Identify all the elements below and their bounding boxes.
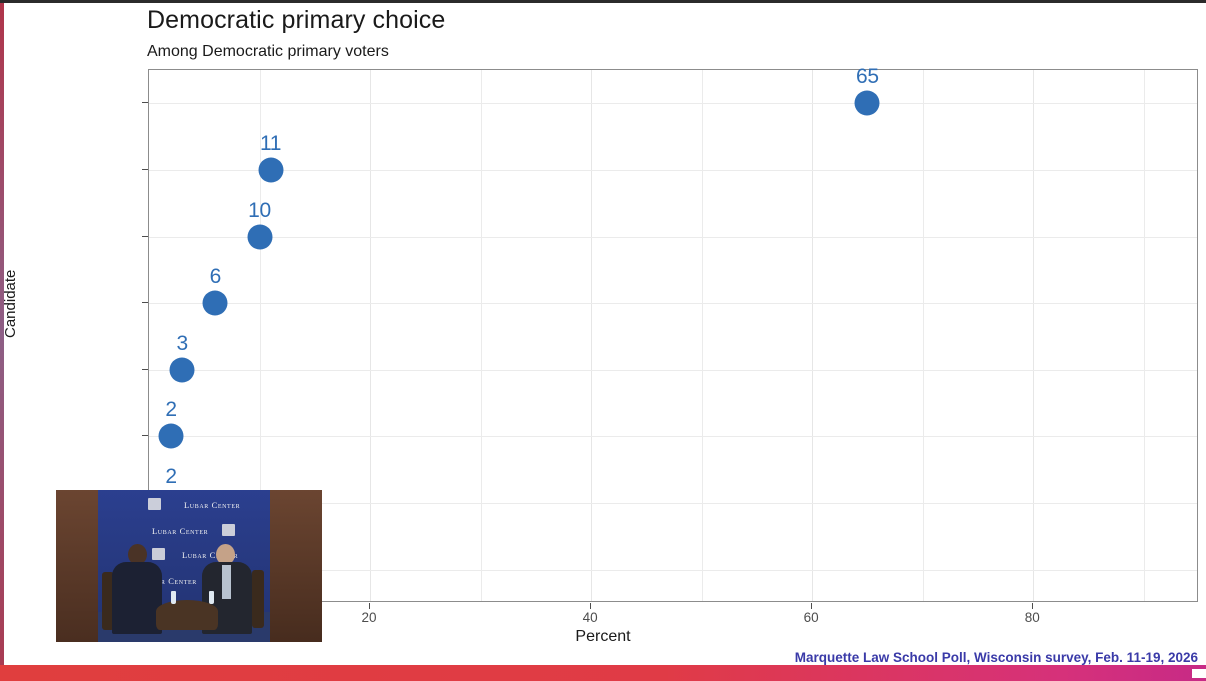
gridline-horizontal <box>149 103 1197 104</box>
video-bottle-right <box>209 591 214 604</box>
data-point-label: 2 <box>165 465 176 489</box>
x-tick-mark <box>811 603 812 609</box>
x-tick-mark <box>369 603 370 609</box>
marquette-logo-icon <box>152 548 165 560</box>
data-point[interactable] <box>247 224 272 249</box>
gridline-horizontal <box>149 303 1197 304</box>
y-tick-mark <box>142 369 148 370</box>
source-note: Marquette Law School Poll, Wisconsin sur… <box>795 650 1198 665</box>
y-tick-mark <box>142 169 148 170</box>
data-point[interactable] <box>258 157 283 182</box>
top-rule-divider <box>0 0 1206 3</box>
data-point-label: 2 <box>165 398 176 422</box>
x-tick-label: 20 <box>362 610 377 625</box>
gridline-vertical <box>1144 70 1145 601</box>
x-tick-label: 60 <box>804 610 819 625</box>
backdrop-text: ar Center <box>156 576 197 586</box>
x-tick-label: 80 <box>1025 610 1040 625</box>
gridline-horizontal <box>149 237 1197 238</box>
x-tick-mark <box>590 603 591 609</box>
y-tick-mark <box>142 302 148 303</box>
gridline-vertical <box>591 70 592 601</box>
gridline-vertical <box>1033 70 1034 601</box>
data-point-label: 65 <box>856 65 879 89</box>
data-point-label: 10 <box>248 199 271 223</box>
y-tick-mark <box>142 236 148 237</box>
gridline-horizontal <box>149 170 1197 171</box>
video-table <box>156 600 218 630</box>
data-point[interactable] <box>203 291 228 316</box>
y-axis-title: Candidate <box>2 270 19 338</box>
gridline-vertical <box>702 70 703 601</box>
video-person-right-shirt <box>222 565 231 599</box>
video-wall-right <box>270 490 322 642</box>
data-point-label: 3 <box>176 332 187 356</box>
gridline-vertical <box>812 70 813 601</box>
chart-subtitle: Among Democratic primary voters <box>147 43 389 61</box>
y-tick-mark <box>142 102 148 103</box>
gridline-vertical <box>923 70 924 601</box>
y-tick-mark <box>142 435 148 436</box>
gridline-vertical <box>481 70 482 601</box>
gridline-vertical <box>370 70 371 601</box>
gridline-horizontal <box>149 436 1197 437</box>
data-point-label: 11 <box>260 132 281 156</box>
x-tick-label: 40 <box>583 610 598 625</box>
video-chair-right <box>252 570 264 628</box>
video-person-left-body <box>112 562 162 634</box>
video-bottle-left <box>171 591 176 604</box>
bottom-accent-bar <box>0 665 1206 681</box>
x-tick-mark <box>1032 603 1033 609</box>
gridline-horizontal <box>149 370 1197 371</box>
marquette-logo-icon <box>222 524 235 536</box>
video-wall-left <box>56 490 98 642</box>
slide-canvas: Democratic primary choice Among Democrat… <box>0 0 1206 681</box>
data-point[interactable] <box>170 357 195 382</box>
marquette-logo-icon <box>148 498 161 510</box>
backdrop-text: Lubar Center <box>184 500 240 510</box>
data-point[interactable] <box>855 91 880 116</box>
video-overlay[interactable]: Lubar Center Lubar Center Lubar Center a… <box>56 490 322 642</box>
backdrop-text: Lubar Center <box>152 526 208 536</box>
data-point-label: 6 <box>210 265 221 289</box>
chart-title: Democratic primary choice <box>147 6 445 35</box>
bottom-bar-notch <box>1192 669 1206 678</box>
data-point[interactable] <box>159 424 184 449</box>
